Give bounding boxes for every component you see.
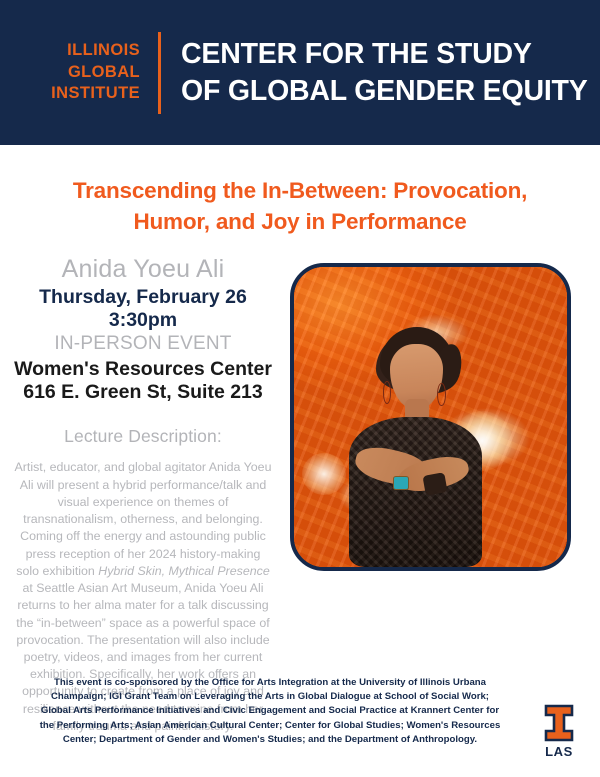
event-title-line-1: Transcending the In-Between: Provocation… xyxy=(28,176,572,207)
photo-wrist-cuff xyxy=(422,472,447,495)
page-footer: This event is co-sponsored by the Office… xyxy=(0,676,600,747)
event-title: Transcending the In-Between: Provocation… xyxy=(0,145,600,237)
center-name: CENTER FOR THE STUDY OF GLOBAL GENDER EQ… xyxy=(181,36,588,109)
description-part-1: Artist, educator, and global agitator An… xyxy=(15,460,272,577)
lecture-description-heading: Lecture Description: xyxy=(8,426,278,447)
event-mode-badge: IN-PERSON EVENT xyxy=(8,333,278,356)
speaker-photo-image xyxy=(294,267,567,567)
header-divider-rule xyxy=(158,32,161,114)
event-title-line-2: Humor, and Joy in Performance xyxy=(28,207,572,238)
venue-address: 616 E. Green St, Suite 213 xyxy=(8,381,278,404)
block-i-icon xyxy=(544,704,574,742)
photo-highlight-left xyxy=(302,453,346,495)
photo-earring-left xyxy=(383,381,392,404)
event-time: 3:30pm xyxy=(8,309,278,332)
photo-earring-right xyxy=(437,383,446,406)
illinois-global-institute-logo: ILLINOIS GLOBAL INSTITUTE xyxy=(30,40,140,105)
center-name-line-2: OF GLOBAL GENDER EQUITY xyxy=(181,73,588,109)
photo-torso xyxy=(349,417,483,567)
exhibition-title: Hybrid Skin, Mythical Presence xyxy=(98,564,269,578)
event-date: Thursday, February 26 xyxy=(8,286,278,309)
photo-turquoise-ring xyxy=(393,476,409,491)
event-details-column: Anida Yoeu Ali Thursday, February 26 3:3… xyxy=(0,255,288,735)
logo-line-illinois: ILLINOIS xyxy=(30,40,140,62)
logo-line-global: GLOBAL xyxy=(30,62,140,84)
speaker-photo xyxy=(290,263,571,571)
sponsors-text: This event is co-sponsored by the Office… xyxy=(0,676,540,747)
logo-line-institute: INSTITUTE xyxy=(30,83,140,105)
venue-name: Women's Resources Center xyxy=(8,358,278,381)
main-content: Anida Yoeu Ali Thursday, February 26 3:3… xyxy=(0,255,600,735)
page-header: ILLINOIS GLOBAL INSTITUTE CENTER FOR THE… xyxy=(0,0,600,145)
center-name-line-1: CENTER FOR THE STUDY xyxy=(181,36,588,72)
speaker-photo-figure xyxy=(294,267,567,567)
las-logo: LAS xyxy=(536,704,582,759)
speaker-name: Anida Yoeu Ali xyxy=(8,255,278,283)
las-label: LAS xyxy=(536,744,582,759)
